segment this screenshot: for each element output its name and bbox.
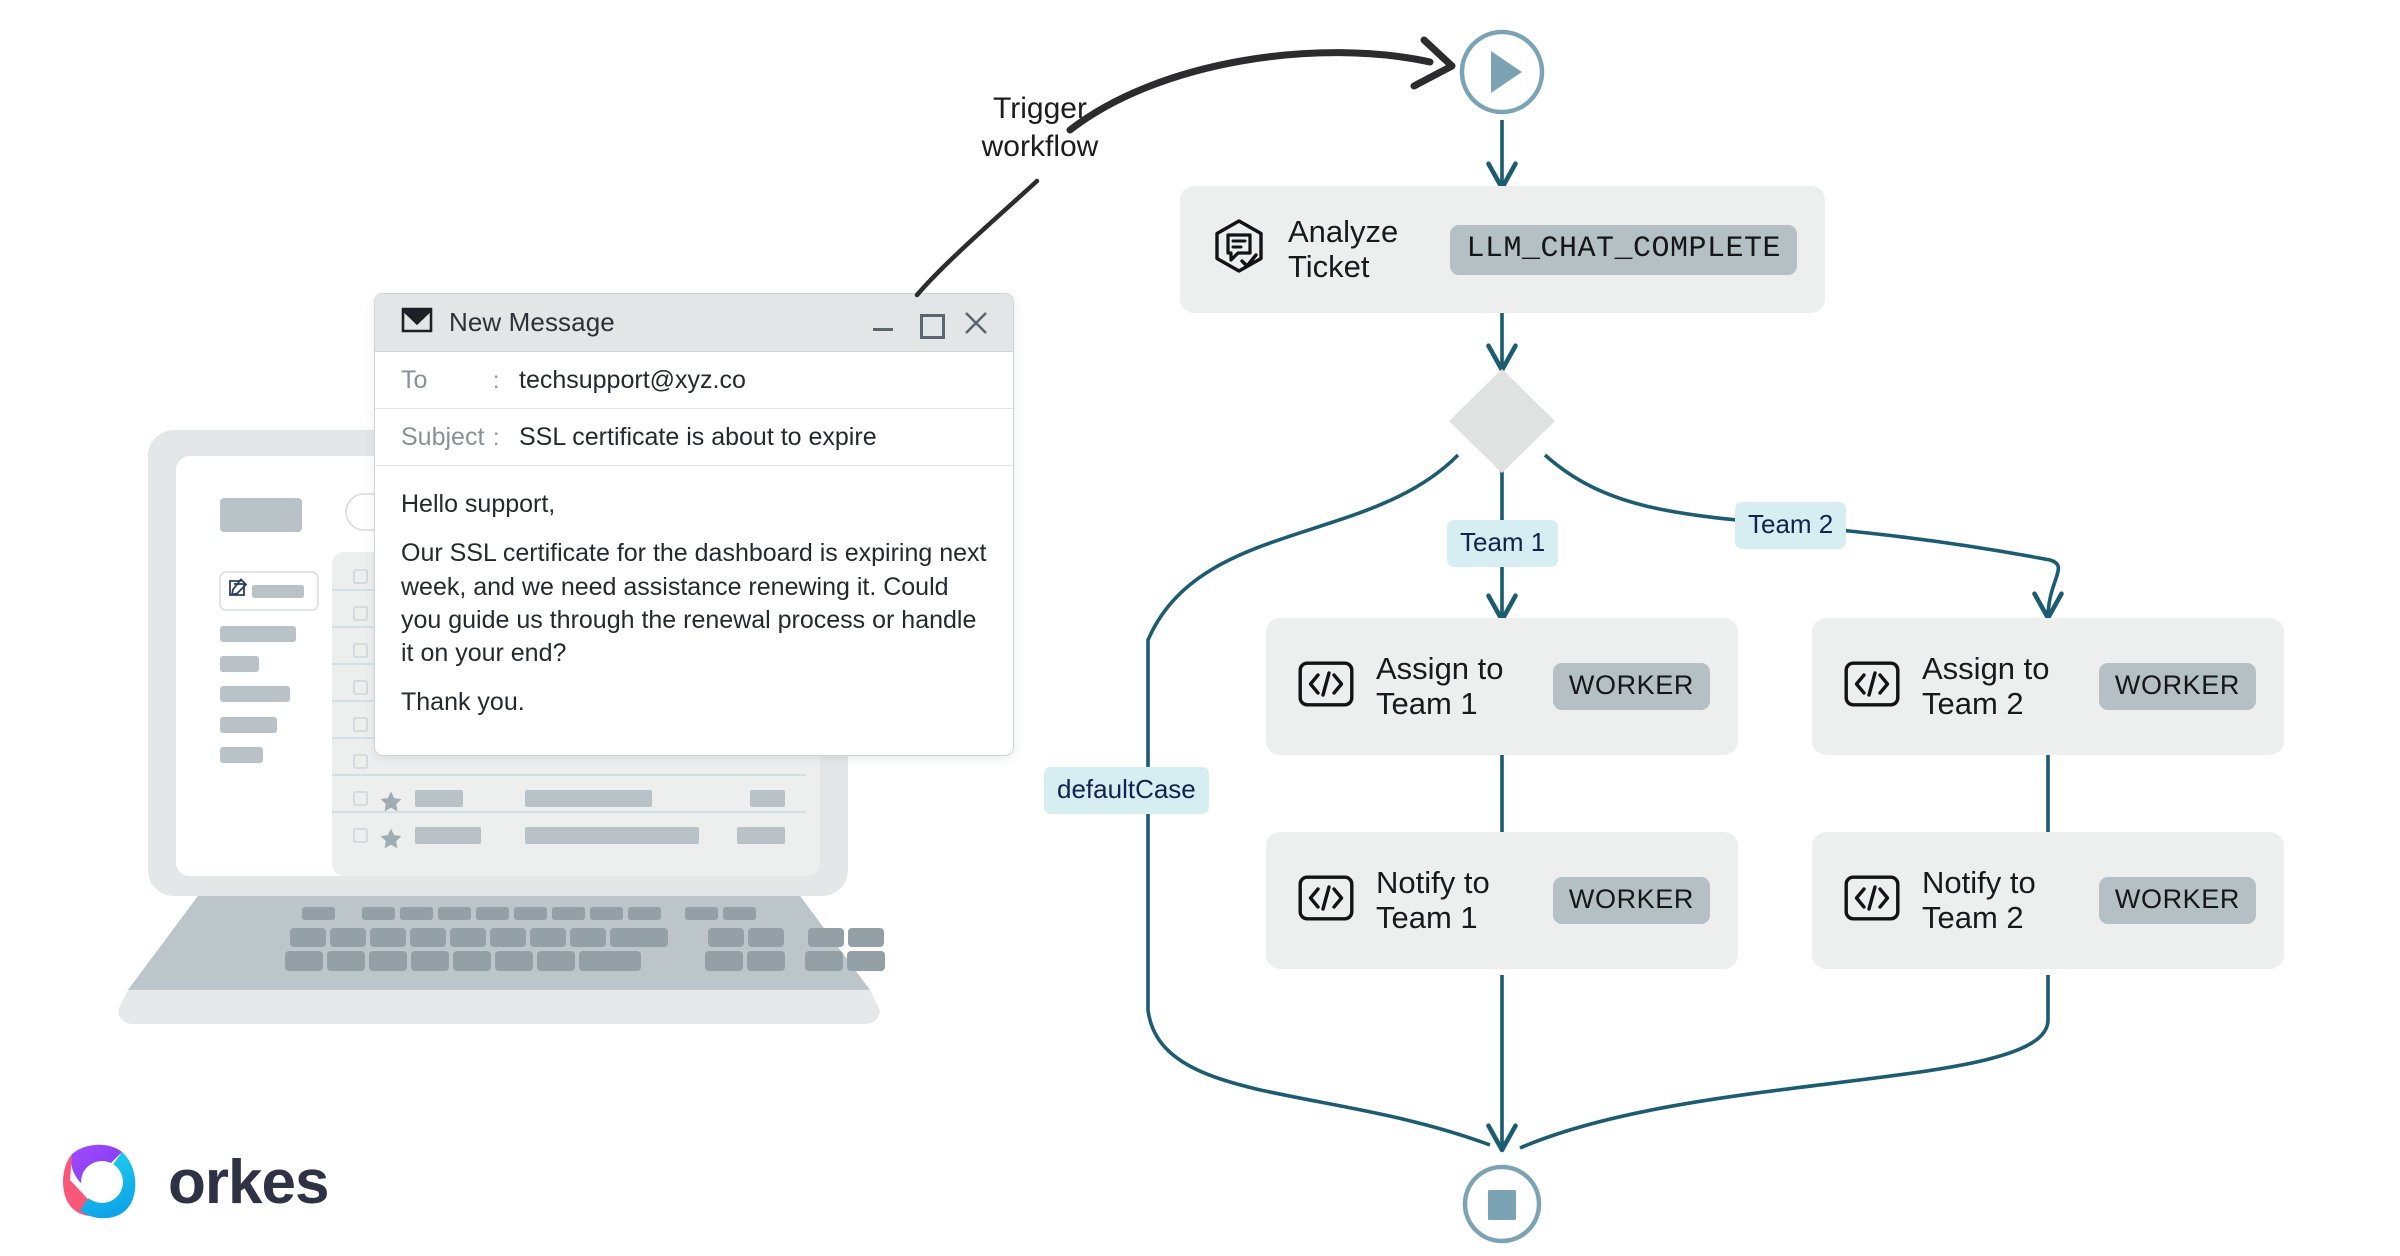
task-assign-team-2[interactable]: Assign to Team 2 WORKER [1812, 618, 2284, 755]
edge-label-default-case: defaultCase [1044, 767, 1209, 814]
code-brackets-icon [1298, 875, 1354, 926]
orkes-mark-icon [58, 1140, 146, 1224]
close-icon[interactable] [963, 310, 989, 336]
task-title: Notify to Team 1 [1376, 866, 1490, 935]
task-type-chip: WORKER [1553, 663, 1710, 710]
subject-label: Subject [401, 423, 493, 452]
switch-decision-node[interactable] [1442, 366, 1562, 476]
task-notify-team-2[interactable]: Notify to Team 2 WORKER [1812, 832, 2284, 969]
envelope-icon [401, 307, 433, 338]
code-brackets-icon [1844, 875, 1900, 926]
edge-label-team-2: Team 2 [1735, 502, 1846, 549]
task-type-chip: LLM_CHAT_COMPLETE [1450, 225, 1797, 275]
llm-chat-icon [1212, 218, 1266, 281]
window-titlebar[interactable]: New Message [375, 294, 1013, 352]
subject-value[interactable]: SSL certificate is about to expire [519, 423, 877, 452]
recipient-row[interactable]: To : techsupport@xyz.co [375, 352, 1013, 409]
minimize-icon[interactable] [871, 310, 897, 336]
body-paragraph: Thank you. [401, 686, 987, 719]
to-value[interactable]: techsupport@xyz.co [519, 366, 746, 395]
subject-separator: : [493, 424, 519, 451]
to-label: To [401, 366, 493, 395]
orkes-logo: orkes [58, 1140, 328, 1224]
task-title: Assign to Team 1 [1376, 652, 1504, 721]
task-title: Assign to Team 2 [1922, 652, 2050, 721]
task-title: Analyze Ticket [1288, 215, 1398, 284]
to-separator: : [493, 367, 519, 394]
stop-square-icon [1488, 1190, 1516, 1220]
start-node[interactable] [1450, 20, 1554, 124]
window-title: New Message [449, 307, 615, 338]
maximize-icon[interactable] [917, 310, 943, 336]
task-type-chip: WORKER [2099, 877, 2256, 924]
subject-row[interactable]: Subject : SSL certificate is about to ex… [375, 409, 1013, 466]
end-node[interactable] [1450, 1152, 1554, 1256]
new-message-window[interactable]: New Message To : techsupport@xyz.co Subj… [374, 293, 1014, 756]
task-analyze-ticket[interactable]: Analyze Ticket LLM_CHAT_COMPLETE [1180, 186, 1825, 313]
diagram-canvas: New Message To : techsupport@xyz.co Subj… [0, 0, 2400, 1256]
edge-label-team-1: Team 1 [1447, 520, 1558, 567]
task-assign-team-1[interactable]: Assign to Team 1 WORKER [1266, 618, 1738, 755]
body-paragraph: Hello support, [401, 488, 987, 521]
code-brackets-icon [1844, 661, 1900, 712]
body-paragraph: Our SSL certificate for the dashboard is… [401, 537, 987, 670]
code-brackets-icon [1298, 661, 1354, 712]
task-title: Notify to Team 2 [1922, 866, 2036, 935]
task-type-chip: WORKER [2099, 663, 2256, 710]
trigger-workflow-note: Trigger workflow [940, 90, 1140, 167]
task-notify-team-1[interactable]: Notify to Team 1 WORKER [1266, 832, 1738, 969]
message-body[interactable]: Hello support, Our SSL certificate for t… [375, 466, 1013, 720]
orkes-wordmark: orkes [168, 1147, 328, 1218]
task-type-chip: WORKER [1553, 877, 1710, 924]
